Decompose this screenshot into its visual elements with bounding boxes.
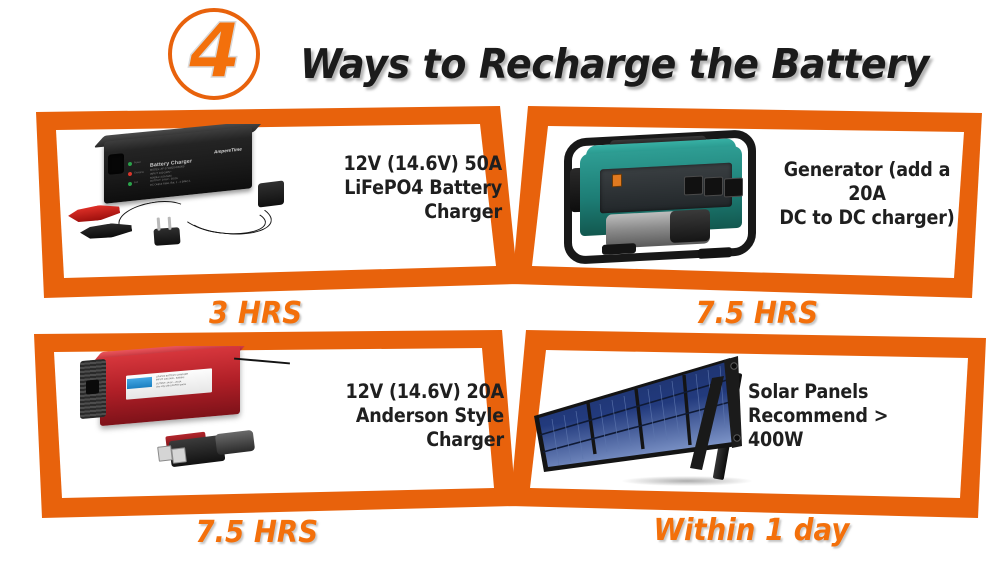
generator-ac-outlet-3-icon [724,178,743,198]
number-badge-icon: 4 [168,8,260,100]
infographic-canvas: 4 Ways to Recharge the Battery Power Cha… [0,0,1000,564]
charger-dc-connector [258,180,284,207]
generator-ac-outlet-1-icon [684,176,703,196]
charger-vent-icon [108,153,124,175]
black-lifepo4-battery-charger-photo: Power Charging Full Battery Charger MODE… [62,124,312,264]
card-caption: 12V (14.6V) 50A LiFePO4 Battery Charger [340,152,502,223]
duration-label-solar-panels: Within 1 day [654,513,850,548]
card-caption: 12V (14.6V) 20A Anderson Style Charger [279,380,504,451]
ac-plug-icon [153,227,180,246]
duration-label-anderson-charger: 7.5 HRS [195,515,318,550]
anderson-pin-1 [157,445,173,462]
generator-power-switch-icon[interactable] [612,174,622,188]
page-title: Ways to Recharge the Battery [300,40,877,100]
generator-ac-outlet-2-icon [704,177,723,197]
anderson-pin-2 [171,447,187,464]
card-caption: Solar Panels Recommend > 400W [748,380,946,451]
badge-number: 4 [172,12,256,96]
card-anderson-charger: LiFePO4 BATTERY CHARGERINPUT: 100-240V~ … [22,330,522,518]
card-battery-charger: Power Charging Full Battery Charger MODE… [22,106,522,298]
duration-label-generator: 7.5 HRS [695,296,818,331]
generator-alternator [670,209,710,243]
foldable-solar-panel-photo [526,342,776,494]
generator-foot-right [698,247,732,259]
card-caption: Generator (add a 20A DC to DC charger) [774,158,959,229]
anderson-connector-grip [215,430,255,455]
duration-label-battery-charger: 3 HRS [209,296,302,331]
generator-foot-left [602,243,636,255]
alligator-clip-positive-icon [67,202,121,224]
card-solar-panels: Solar Panels Recommend > 400W [508,330,990,518]
header: 4 Ways to Recharge the Battery [0,0,1000,105]
solar-panel-array [526,342,776,494]
red-charger-ac-inlet-icon [86,379,99,394]
portable-gasoline-generator-photo [556,128,766,270]
red-charger-output-cord [234,358,290,365]
led-full-label: Full [134,181,138,184]
card-generator: Generator (add a 20A DC to DC charger) [508,106,988,298]
